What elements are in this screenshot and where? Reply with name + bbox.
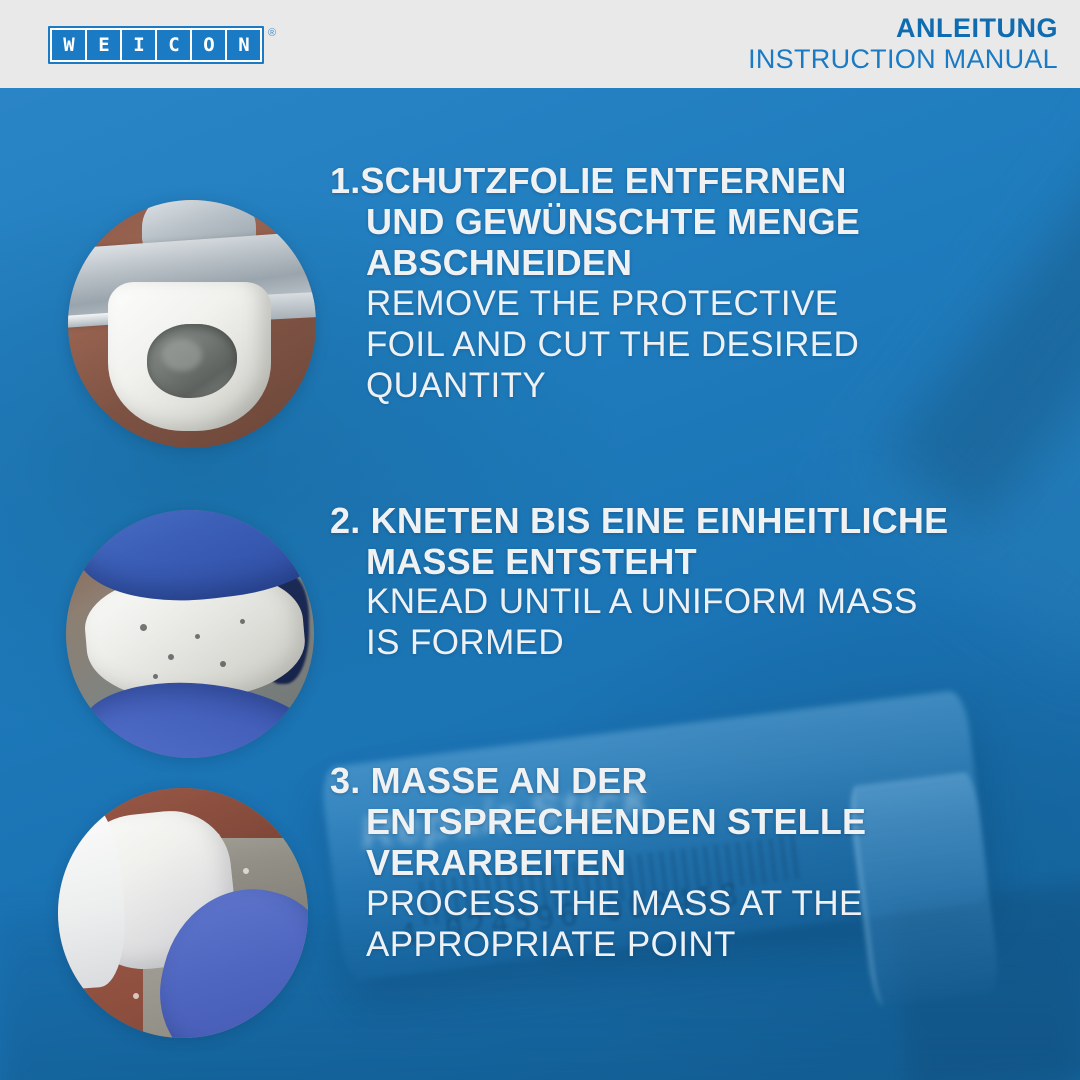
header-title-german: ANLEITUNG <box>748 14 1058 43</box>
photo2-speck <box>168 654 174 660</box>
weicon-logo: W E I C O N ® <box>48 26 276 64</box>
step-2-de-line-2: MASSE ENTSTEHT <box>330 541 948 582</box>
step-3-en-line-2: APPROPRIATE POINT <box>330 925 866 966</box>
logo-letter-box-i: I <box>122 30 155 60</box>
step-2-text: 2. KNETEN BIS EINE EINHEITLICHE MASSE EN… <box>330 500 948 664</box>
logo-letter-w: W <box>63 36 73 55</box>
steps-container: 1.SCHUTZFOLIE ENTFERNEN UND GEWÜNSCHTE M… <box>0 88 1080 1080</box>
step-3-de-line-3: VERARBEITEN <box>330 842 866 883</box>
logo-letter-c: C <box>168 36 178 55</box>
instruction-manual-infographic: W E I C O N ® ANLEITUNG INSTRUCTION MANU… <box>0 0 1080 1080</box>
photo-kneading-putty <box>66 510 314 758</box>
logo-letter-boxes: W E I C O N <box>48 26 264 64</box>
step-3-de-line-2: ENTSPRECHENDEN STELLE <box>330 801 866 842</box>
step-3-en-line-1: PROCESS THE MASS AT THE <box>330 884 866 925</box>
logo-letter-e: E <box>98 36 108 55</box>
logo-letter-box-w: W <box>52 30 85 60</box>
photo2-speck <box>195 634 200 639</box>
step-3-photo <box>58 788 308 1038</box>
step-1-de-line-2: UND GEWÜNSCHTE MENGE <box>330 201 860 242</box>
photo2-speck <box>240 619 245 624</box>
step-2-en-line-1: KNEAD UNTIL A UNIFORM MASS <box>330 582 948 623</box>
header-title-group: ANLEITUNG INSTRUCTION MANUAL <box>748 14 1058 74</box>
step-1-en-line-1: REMOVE THE PROTECTIVE <box>330 284 860 325</box>
step-1-en-line-3: QUANTITY <box>330 366 860 407</box>
step-1-de-line-1: 1.SCHUTZFOLIE ENTFERNEN <box>330 160 860 201</box>
step-1-de-line-3: ABSCHNEIDEN <box>330 242 860 283</box>
logo-letter-box-o: O <box>192 30 225 60</box>
step-1-text: 1.SCHUTZFOLIE ENTFERNEN UND GEWÜNSCHTE M… <box>330 160 860 406</box>
photo1-core-highlight <box>162 339 202 371</box>
photo2-speck <box>220 661 226 667</box>
step-3-text: 3. MASSE AN DER ENTSPRECHENDEN STELLE VE… <box>330 760 866 966</box>
header-title-english: INSTRUCTION MANUAL <box>748 44 1058 74</box>
photo-applying-putty-to-joint <box>58 788 308 1038</box>
photo2-speck <box>153 674 158 679</box>
step-2-en-line-2: IS FORMED <box>330 623 948 664</box>
step-2-de-line-1: 2. KNETEN BIS EINE EINHEITLICHE <box>330 500 948 541</box>
photo3-grit <box>133 993 139 999</box>
logo-letter-o: O <box>203 36 213 55</box>
page-header: W E I C O N ® ANLEITUNG INSTRUCTION MANU… <box>0 0 1080 88</box>
logo-letter-box-c: C <box>157 30 190 60</box>
logo-letter-i: I <box>133 36 143 55</box>
logo-letter-box-n: N <box>227 30 260 60</box>
photo3-grit <box>243 868 249 874</box>
logo-letter-n: N <box>238 36 248 55</box>
step-3-de-line-1: 3. MASSE AN DER <box>330 760 866 801</box>
step-2-photo <box>66 510 314 758</box>
logo-letter-box-e: E <box>87 30 120 60</box>
registered-trademark-icon: ® <box>268 27 276 39</box>
step-1-en-line-2: FOIL AND CUT THE DESIRED <box>330 325 860 366</box>
photo-cut-putty-stick <box>68 200 316 448</box>
step-1-photo <box>68 200 316 448</box>
